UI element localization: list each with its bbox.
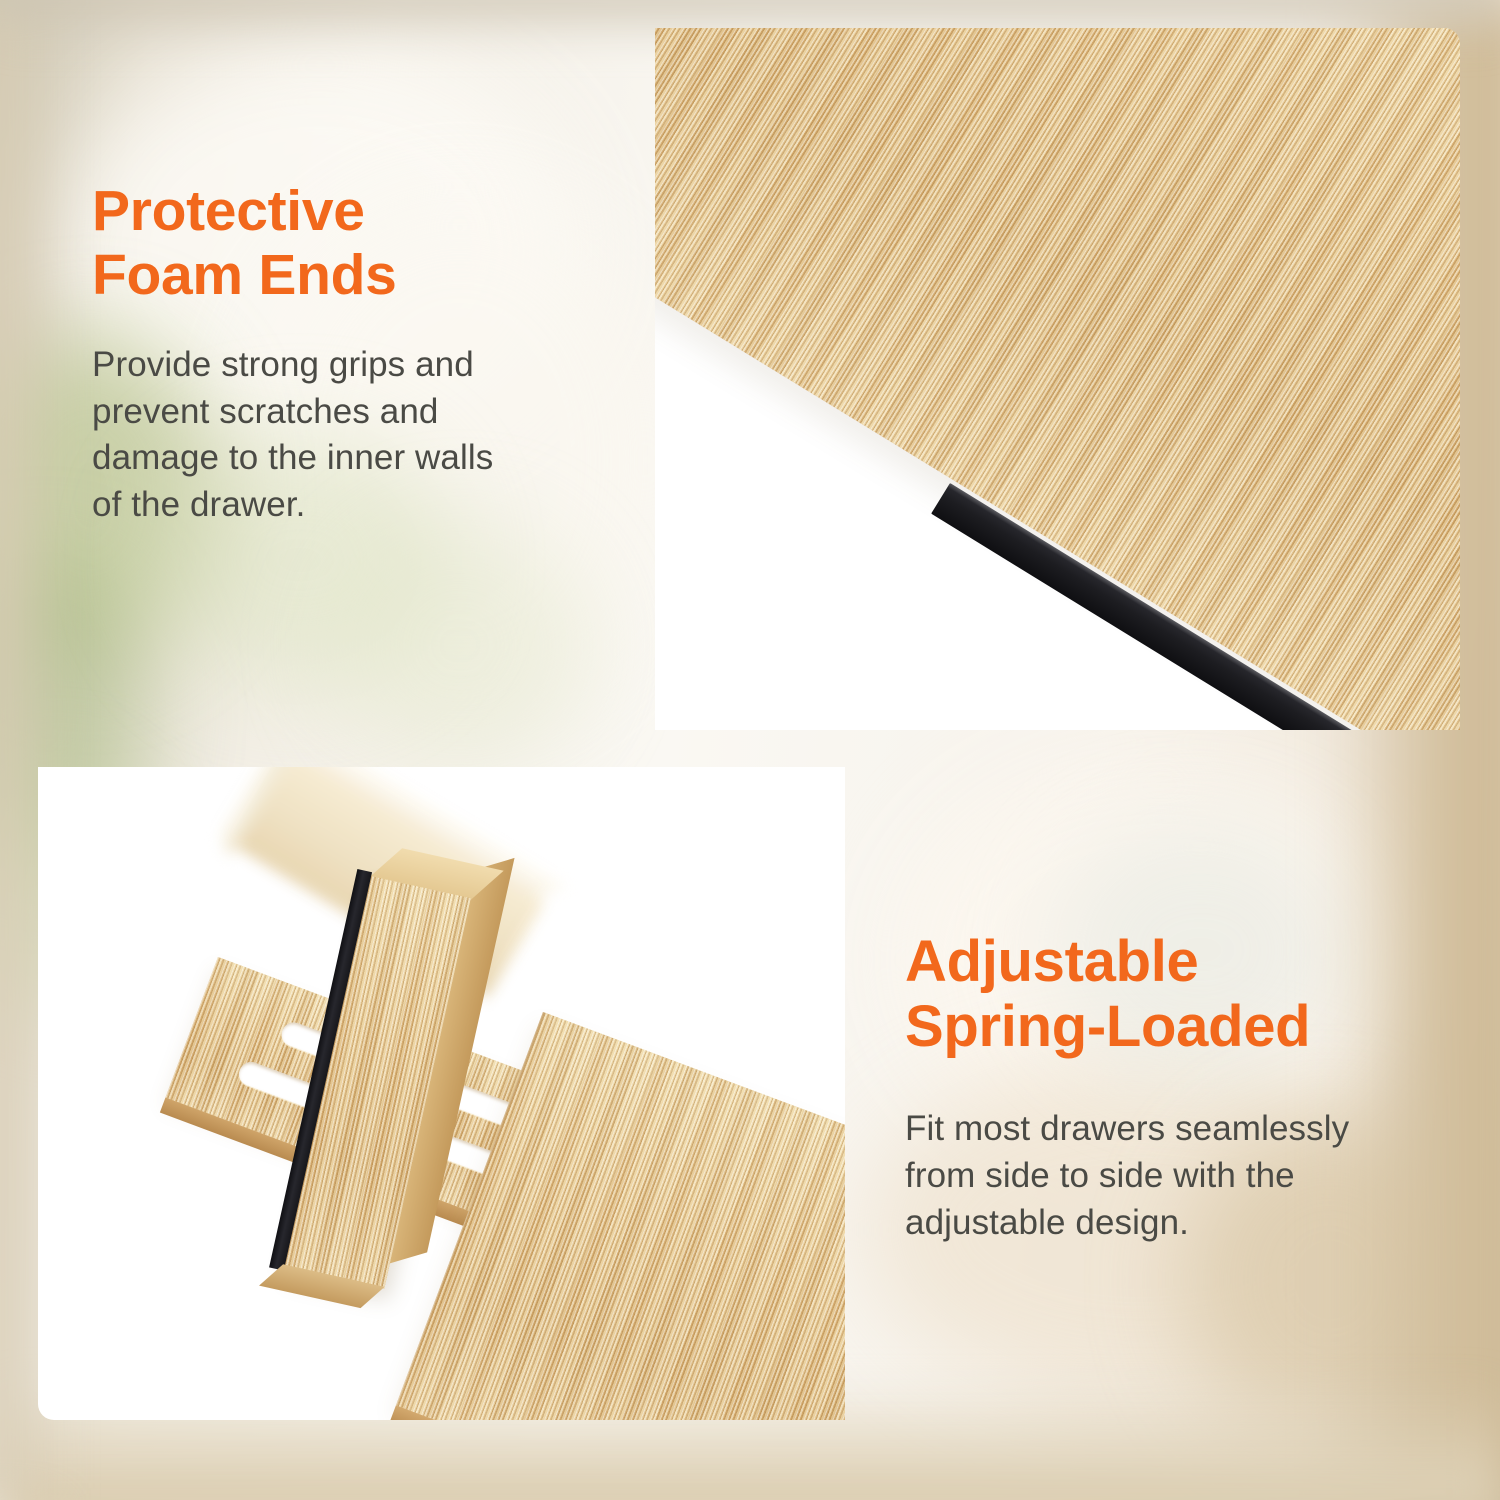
feature-heading-foam-ends: Protective Foam Ends [92,180,622,308]
feature-text-foam-ends: Protective Foam Ends Provide strong grip… [92,180,622,529]
photo-panel-spring-loaded [38,767,845,1420]
feature-body-foam-ends: Provide strong grips and prevent scratch… [92,342,622,530]
feature-heading-spring-loaded: Adjustable Spring-Loaded [905,930,1450,1060]
bamboo-board-face [655,28,1460,730]
feature-text-spring-loaded: Adjustable Spring-Loaded Fit most drawer… [905,930,1450,1247]
infographic-canvas: Protective Foam Ends Provide strong grip… [0,0,1500,1500]
feature-body-spring-loaded: Fit most drawers seamlessly from side to… [905,1106,1450,1247]
bamboo-board-illustration [655,28,1460,730]
photo-panel-foam-ends [655,28,1460,730]
divider-assembly-illustration [38,767,845,1420]
